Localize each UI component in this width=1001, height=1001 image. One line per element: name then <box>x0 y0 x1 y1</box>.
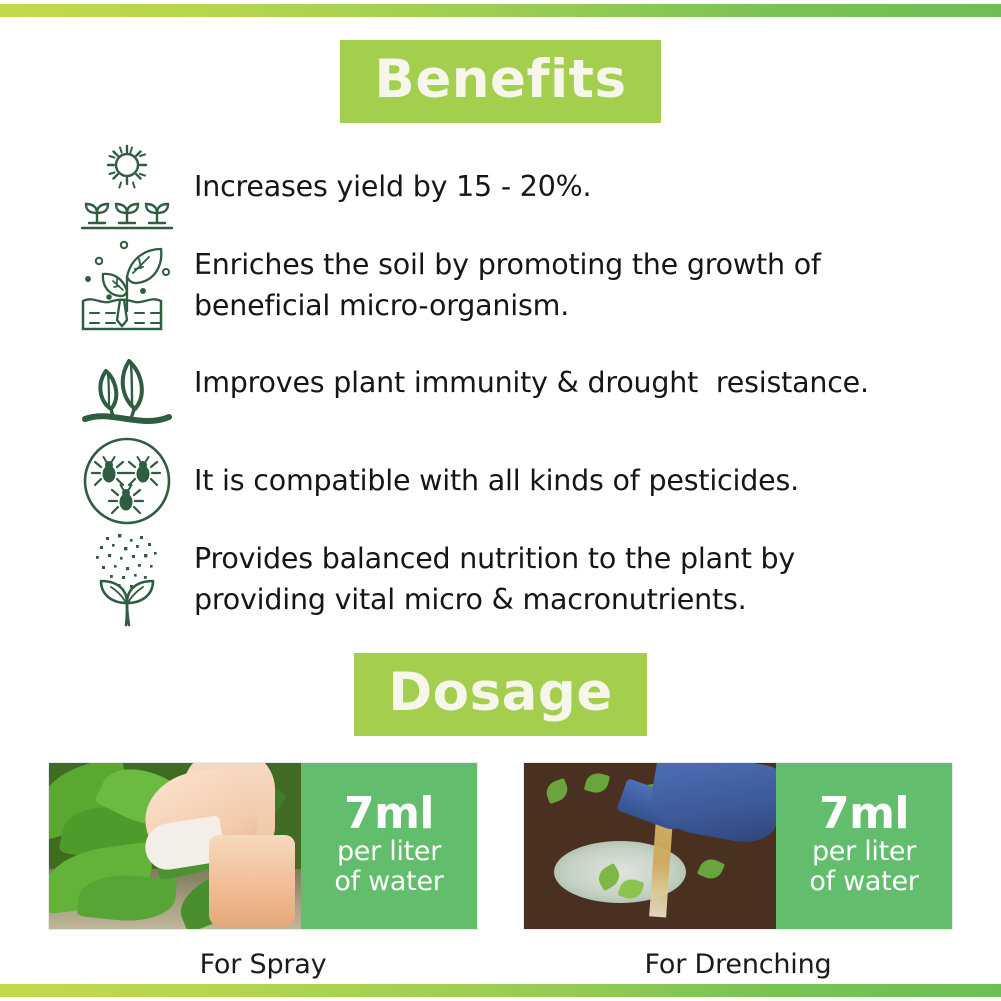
dosage-panel: 7ml per liter of water <box>301 763 477 929</box>
dosage-card-body: 7ml per liter of water <box>523 762 953 930</box>
dosage-heading-wrap: Dosage <box>0 653 1001 736</box>
benefit-text: Improves plant immunity & drought resist… <box>182 362 1001 403</box>
plant-in-soil-microbes-icon <box>72 239 182 331</box>
benefit-item-nutrition: Provides balanced nutrition to the plant… <box>0 533 1001 625</box>
dosage-unit-line-2: of water <box>809 867 918 897</box>
benefit-item-soil: Enriches the soil by promoting the growt… <box>0 239 1001 331</box>
benefits-heading-banner: Benefits <box>340 40 660 123</box>
benefit-item-yield: Increases yield by 15 - 20%. <box>0 141 1001 233</box>
dosage-unit-line-1: per liter <box>337 837 441 867</box>
dosage-caption: For Drenching <box>523 930 953 980</box>
benefit-text: It is compatible with all kinds of pesti… <box>182 460 1001 501</box>
dosage-caption: For Spray <box>48 930 478 980</box>
dosage-panel: 7ml per liter of water <box>776 763 952 929</box>
sprout-with-nutrients-icon <box>72 533 182 625</box>
watering-can-drenching-soil-photo <box>524 763 776 929</box>
bottom-gradient-bar <box>0 984 1001 997</box>
dosage-card-spray: 7ml per liter of water For Spray <box>48 762 478 980</box>
main-content: Benefits <box>0 17 1001 984</box>
benefit-text: Increases yield by 15 - 20%. <box>182 166 1001 207</box>
benefit-item-immunity: Improves plant immunity & drought resist… <box>0 337 1001 429</box>
dosage-heading-banner: Dosage <box>354 653 647 736</box>
infographic-page: Benefits <box>0 0 1001 1001</box>
benefits-list: Increases yield by 15 - 20%. <box>0 141 1001 625</box>
dosage-amount: 7ml <box>819 792 909 837</box>
dosage-card-body: 7ml per liter of water <box>48 762 478 930</box>
two-leaves-ground-icon <box>72 337 182 429</box>
pests-in-circle-icon <box>72 435 182 527</box>
dosage-amount: 7ml <box>344 792 434 837</box>
benefit-text: Provides balanced nutrition to the plant… <box>182 538 1001 621</box>
benefits-heading-wrap: Benefits <box>0 40 1001 123</box>
dosage-cards: 7ml per liter of water For Spray <box>0 762 1001 980</box>
top-gradient-bar <box>0 4 1001 17</box>
dosage-card-drenching: 7ml per liter of water For Drenching <box>523 762 953 980</box>
dosage-unit-line-1: per liter <box>812 837 916 867</box>
hand-spraying-plants-photo <box>49 763 301 929</box>
benefit-text: Enriches the soil by promoting the growt… <box>182 244 1001 327</box>
dosage-unit-line-2: of water <box>334 867 443 897</box>
sun-over-sprouts-icon <box>72 141 182 233</box>
benefit-item-pesticide-compatible: It is compatible with all kinds of pesti… <box>0 435 1001 527</box>
